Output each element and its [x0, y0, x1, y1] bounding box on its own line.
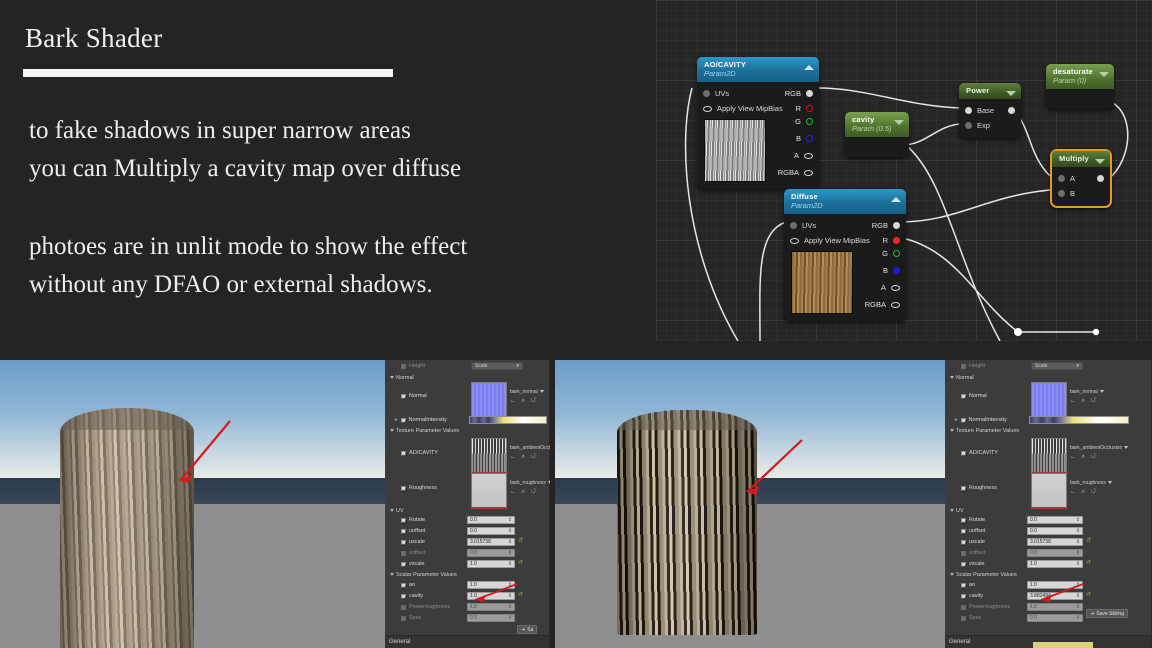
spinner-icon[interactable]: ⇕	[508, 615, 512, 621]
disclosure-triangle-icon[interactable]: ▸	[955, 417, 958, 423]
save-sibling-button-right[interactable]: ⇥ Save Sibling	[1086, 609, 1128, 618]
disclosure-triangle-icon[interactable]: ▸	[395, 417, 398, 423]
row-uoffset[interactable]: uoffset	[401, 528, 425, 534]
checkbox-uscale[interactable]	[961, 540, 966, 545]
node-title: AO/CAVITY	[704, 60, 813, 69]
node-diffuse[interactable]: Diffuse Param2D UVs RGB Apply View MipBi…	[784, 189, 906, 321]
texture-slot-normal[interactable]	[1031, 382, 1067, 418]
chevron-down-icon[interactable]	[548, 481, 550, 484]
chevron-down-icon[interactable]	[894, 120, 904, 125]
label-powerroughness: Powerroughness	[969, 604, 1010, 610]
label-cavity: cavity	[969, 593, 983, 599]
checkbox-ao[interactable]	[961, 583, 966, 588]
row-normal-intensity[interactable]: ▸ NormalIntensity	[395, 417, 447, 423]
section-uv[interactable]: UV	[390, 508, 404, 514]
node-ao-cavity[interactable]: AO/CAVITY Param2D UVs RGB Apply View Mip…	[697, 57, 819, 189]
checkbox-voffset[interactable]	[961, 551, 966, 556]
section-label: Texture Parameter Values	[396, 428, 459, 434]
input-powerroughness[interactable]: 1.0⇕	[467, 603, 515, 611]
checkbox-normal-intensity[interactable]	[401, 418, 406, 423]
combo-scale[interactable]: Scale ▾	[471, 362, 523, 370]
node-desaturate[interactable]: desaturate Param (0)	[1046, 64, 1114, 109]
label-voffset: voffset	[409, 550, 425, 556]
label-roughness: Roughness	[969, 485, 997, 491]
section-label: Texture Parameter Values	[956, 428, 1019, 434]
pin-label: G	[795, 117, 801, 126]
details-panel-right[interactable]: Height Scale ▾ Normal Normal bark_normal	[945, 360, 1152, 648]
label-uscale: uscale	[969, 539, 985, 545]
slide-root: Bark Shader to fake shadows in super nar…	[0, 0, 1152, 648]
value-rotate: 0.0	[470, 517, 477, 523]
node-pin-row[interactable]: Apply View MipBias R	[697, 101, 819, 116]
checkbox-roughness[interactable]	[961, 486, 966, 491]
row-height[interactable]: Height	[961, 363, 985, 369]
spinner-icon[interactable]: ⇕	[508, 528, 512, 534]
input-voffset[interactable]: 0.0⇕	[467, 549, 515, 557]
checkbox-uoffset[interactable]	[961, 529, 966, 534]
pin-label: B	[1070, 189, 1075, 198]
disclosure-triangle-icon[interactable]	[950, 509, 954, 512]
save-icon: ⇥	[1090, 611, 1094, 617]
input-rotate[interactable]: 0.0⇕	[1027, 516, 1083, 524]
reset-icon-uscale[interactable]: ↺	[1086, 537, 1091, 544]
output-pin-icon[interactable]	[804, 170, 813, 176]
checkbox-spec[interactable]	[401, 616, 406, 621]
viewport-left[interactable]	[0, 360, 385, 648]
texture-actions-normal[interactable]: ← ⌕ ↺	[1070, 398, 1098, 405]
viewport-right[interactable]	[555, 360, 945, 648]
bottom-screenshot-strip: Height Scale ▾ Normal Normal bark_normal	[0, 360, 1152, 648]
section-uv[interactable]: UV	[950, 508, 964, 514]
pin-label: Exp	[977, 121, 990, 130]
chevron-down-icon[interactable]	[1006, 91, 1016, 96]
texture-name-roughness[interactable]: bark_roughness	[1070, 480, 1112, 486]
row-ao[interactable]: ao	[961, 582, 975, 588]
value-uoffset: 0.0	[470, 528, 477, 534]
section-label: Scalar Parameter Values	[396, 572, 457, 578]
details-labels-right: Height Scale ▾ Normal Normal bark_normal	[945, 360, 1152, 648]
node-multiply[interactable]: Multiply A B	[1050, 149, 1112, 208]
details-labels-left: Height Scale ▾ Normal Normal bark_normal	[385, 360, 550, 648]
chevron-down-icon[interactable]	[1124, 446, 1128, 449]
label-vscale: vscale	[969, 561, 985, 567]
texture-actions-ao[interactable]: ← ⌕ ↺	[510, 454, 538, 461]
pin-label: UVs	[715, 89, 729, 98]
label-rotate: Rotate	[969, 517, 985, 523]
checkbox-ao-cavity[interactable]	[401, 451, 406, 456]
pin-label: A	[881, 283, 886, 292]
input-spec[interactable]: 0.0⇕	[1027, 614, 1083, 622]
pin-label: UVs	[802, 221, 816, 230]
output-pin-icon[interactable]	[893, 237, 900, 244]
label-cavity: cavity	[409, 593, 423, 599]
spinner-icon[interactable]: ⇕	[508, 517, 512, 523]
annotation-arrow-right	[735, 436, 807, 501]
value-spec: 0.0	[1030, 615, 1037, 621]
slide-body: to fake shadows in super narrow areas yo…	[29, 112, 639, 304]
disclosure-triangle-icon[interactable]	[390, 573, 394, 576]
texture-name-ao[interactable]: bark_ambientOcclusion	[510, 445, 550, 451]
output-pin-icon[interactable]	[806, 118, 813, 125]
checkbox-vscale[interactable]	[401, 562, 406, 567]
label-ao-cavity: AO/CAVITY	[969, 450, 998, 456]
label-vscale: vscale	[409, 561, 425, 567]
texture-name-normal[interactable]: bark_normal	[1070, 389, 1104, 395]
reset-icon-uscale[interactable]: ↺	[518, 537, 523, 544]
combo-scale[interactable]: Scale ▾	[1031, 362, 1083, 370]
annotation-arrow-right-panel	[1033, 582, 1088, 604]
output-pin-icon[interactable]	[806, 105, 813, 112]
checkbox-rotate[interactable]	[401, 518, 406, 523]
row-normal-intensity[interactable]: ▸ NormalIntensity	[955, 417, 1007, 423]
input-pin-icon[interactable]	[703, 90, 710, 97]
input-pin-icon[interactable]	[965, 122, 972, 129]
checkbox-powerroughness[interactable]	[961, 605, 966, 610]
general-label: General	[949, 639, 970, 645]
output-pin-icon[interactable]	[806, 135, 813, 142]
label-uoffset: uoffset	[409, 528, 425, 534]
node-pin-row[interactable]: B	[1052, 186, 1110, 201]
general-section-bar-left[interactable]: General	[385, 635, 549, 648]
row-rotate[interactable]: Rotate	[961, 517, 985, 523]
checkbox-cavity[interactable]	[401, 594, 406, 599]
label-normal: Normal	[969, 393, 987, 399]
disclosure-triangle-icon[interactable]	[950, 573, 954, 576]
checkbox-uscale[interactable]	[401, 540, 406, 545]
node-pin-row[interactable]: Base	[959, 103, 1021, 118]
body-line: without any DFAO or external shadows.	[29, 266, 639, 304]
row-voffset[interactable]: voffset	[401, 550, 425, 556]
spinner-icon[interactable]: ⇕	[1076, 550, 1080, 556]
label-normal: Normal	[409, 393, 427, 399]
value-spec: 0.5	[470, 615, 477, 621]
input-pin-icon[interactable]	[1058, 175, 1065, 182]
input-pin-icon[interactable]	[703, 106, 712, 112]
output-pin-icon[interactable]	[893, 250, 900, 257]
row-powerroughness[interactable]: Powerroughness	[961, 604, 1010, 610]
output-pin-icon[interactable]	[1097, 175, 1104, 182]
node-pin-row[interactable]: UVs RGB	[784, 218, 906, 233]
disclosure-triangle-icon[interactable]	[390, 509, 394, 512]
body-line: to fake shadows in super narrow areas	[29, 112, 639, 150]
texture-slot-normal[interactable]	[471, 382, 507, 418]
pin-label: R	[796, 104, 801, 113]
checkbox-vscale[interactable]	[961, 562, 966, 567]
label-rotate: Rotate	[409, 517, 425, 523]
row-ao-cavity[interactable]: AO/CAVITY	[401, 450, 438, 456]
node-body	[1046, 89, 1114, 109]
node-header[interactable]: Power	[959, 83, 1021, 99]
node-subtitle: Param (0.5)	[852, 124, 903, 133]
node-subtitle: Param2D	[704, 69, 813, 78]
node-subtitle: Param (0)	[1053, 76, 1108, 85]
node-header[interactable]: AO/CAVITY Param2D	[697, 57, 819, 82]
general-label: General	[389, 639, 410, 645]
pin-label: B	[796, 134, 801, 143]
pin-label: RGBA	[865, 300, 886, 309]
value-uoffset: 0.0	[1030, 528, 1037, 534]
section-label: Scalar Parameter Values	[956, 572, 1017, 578]
texture-thumbnail-diffuse[interactable]	[791, 251, 853, 314]
spinner-icon[interactable]: ⇕	[1076, 615, 1080, 621]
disclosure-triangle-icon[interactable]	[950, 429, 954, 432]
texture-name-label: bark_roughness	[510, 480, 546, 486]
spinner-icon[interactable]: ⇕	[1076, 604, 1080, 610]
texture-name-label: bark_ambientOcclusion	[510, 445, 550, 451]
disclosure-triangle-icon[interactable]	[950, 376, 954, 379]
texture-actions-roughness[interactable]: ← ⌕ ↺	[1070, 489, 1098, 496]
label-ao: ao	[409, 582, 415, 588]
gradient-normal-intensity[interactable]	[469, 416, 547, 424]
node-body: Base Exp	[959, 99, 1021, 138]
checkbox-height[interactable]	[401, 364, 406, 369]
chevron-down-icon[interactable]	[1100, 390, 1104, 393]
row-ao-cavity[interactable]: AO/CAVITY	[961, 450, 998, 456]
checkbox-uoffset[interactable]	[401, 529, 406, 534]
section-normal[interactable]: Normal	[950, 375, 974, 381]
input-pin-icon[interactable]	[965, 107, 972, 114]
highlight-bar	[1033, 642, 1093, 648]
input-uoffset[interactable]: 0.0⇕	[467, 527, 515, 535]
checkbox-voffset[interactable]	[401, 551, 406, 556]
details-panel-left[interactable]: Height Scale ▾ Normal Normal bark_normal	[385, 360, 550, 648]
input-pin-icon[interactable]	[790, 222, 797, 229]
checkbox-cavity[interactable]	[961, 594, 966, 599]
page-title: Bark Shader	[25, 23, 163, 54]
pin-label: Apply View MipBias	[804, 236, 870, 245]
checkbox-normal[interactable]	[401, 394, 406, 399]
node-body	[845, 137, 909, 157]
input-powerroughness[interactable]: 1.0⇕	[1027, 603, 1083, 611]
node-body: UVs RGB Apply View MipBias R G B A	[784, 214, 906, 321]
checkbox-normal[interactable]	[961, 394, 966, 399]
row-vscale[interactable]: vscale	[401, 561, 425, 567]
material-node-graph[interactable]: AO/CAVITY Param2D UVs RGB Apply View Mip…	[656, 0, 1152, 341]
label-height: Height	[409, 363, 425, 369]
input-vscale[interactable]: 1.0⇕	[1027, 560, 1083, 568]
node-header[interactable]: Diffuse Param2D	[784, 189, 906, 214]
output-pin-icon[interactable]	[893, 222, 900, 229]
combo-value: Scale	[475, 363, 488, 369]
texture-name-label: bark_normal	[510, 389, 538, 395]
label-powerroughness: Powerroughness	[409, 604, 450, 610]
save-sibling-button-left[interactable]: ⇥ Sa	[517, 625, 537, 634]
row-normal[interactable]: Normal	[401, 393, 427, 399]
gradient-normal-intensity[interactable]	[1029, 416, 1129, 424]
pin-label: Apply View MipBias	[717, 104, 783, 113]
output-pin-icon[interactable]	[804, 153, 813, 159]
chevron-down-icon: ▾	[516, 363, 519, 369]
value-vscale: 1.0	[1030, 561, 1037, 567]
texture-slot-roughness[interactable]	[471, 473, 507, 509]
texture-actions-normal[interactable]: ← ⌕ ↺	[510, 398, 538, 405]
pin-label: G	[882, 249, 888, 258]
row-uscale[interactable]: uscale	[401, 539, 425, 545]
section-label: UV	[956, 508, 964, 514]
checkbox-rotate[interactable]	[961, 518, 966, 523]
row-rotate[interactable]: Rotate	[401, 517, 425, 523]
row-spec[interactable]: Spec	[961, 615, 982, 621]
output-pin-icon[interactable]	[891, 302, 900, 308]
output-pin-icon[interactable]	[893, 267, 900, 274]
label-spec: Spec	[409, 615, 422, 621]
row-uoffset[interactable]: uoffset	[961, 528, 985, 534]
reset-icon-vscale[interactable]: ↺	[518, 559, 523, 566]
spinner-icon[interactable]: ⇕	[1076, 528, 1080, 534]
node-header[interactable]: cavity Param (0.5)	[845, 112, 909, 137]
output-pin-icon[interactable]	[806, 90, 813, 97]
disclosure-triangle-icon[interactable]	[390, 376, 394, 379]
checkbox-ao[interactable]	[401, 583, 406, 588]
chevron-down-icon[interactable]	[1099, 72, 1109, 77]
chevron-up-icon[interactable]	[891, 197, 901, 202]
label-uscale: uscale	[409, 539, 425, 545]
texture-slot-roughness[interactable]	[1031, 473, 1067, 509]
row-ao[interactable]: ao	[401, 582, 415, 588]
label-normal-intensity: NormalIntensity	[409, 417, 447, 423]
label-height: Height	[969, 363, 985, 369]
row-spec[interactable]: Spec	[401, 615, 422, 621]
pin-label: Base	[977, 106, 994, 115]
checkbox-ao-cavity[interactable]	[961, 451, 966, 456]
node-pin-row[interactable]: A	[1052, 171, 1110, 186]
texture-name-normal[interactable]: bark_normal	[510, 389, 544, 395]
texture-name-label: bark_roughness	[1070, 480, 1106, 486]
node-body: UVs RGB Apply View MipBias R G B A	[697, 82, 819, 189]
chevron-up-icon[interactable]	[804, 65, 814, 70]
chevron-down-icon: ▾	[1076, 363, 1079, 369]
title-underline	[23, 69, 393, 77]
node-header[interactable]: Multiply	[1052, 151, 1110, 167]
section-label: Normal	[396, 375, 414, 381]
node-header[interactable]: desaturate Param (0)	[1046, 64, 1114, 89]
input-pin-icon[interactable]	[1058, 190, 1065, 197]
texture-slot-ao[interactable]	[471, 438, 507, 474]
section-texture-parameter-values[interactable]: Texture Parameter Values	[390, 428, 459, 434]
checkbox-height[interactable]	[961, 364, 966, 369]
pin-label: A	[1070, 174, 1075, 183]
pin-label: B	[883, 266, 888, 275]
row-cavity[interactable]: cavity	[961, 593, 983, 599]
paragraph-gap	[29, 188, 639, 228]
section-normal[interactable]: Normal	[390, 375, 414, 381]
input-uoffset[interactable]: 0.0⇕	[1027, 527, 1083, 535]
row-uscale[interactable]: uscale	[961, 539, 985, 545]
checkbox-powerroughness[interactable]	[401, 605, 406, 610]
row-normal[interactable]: Normal	[961, 393, 987, 399]
pin-label: R	[883, 236, 888, 245]
label-ao: ao	[969, 582, 975, 588]
input-voffset[interactable]: 0.0⇕	[1027, 549, 1083, 557]
value-uscale: 3.015738	[1030, 539, 1051, 545]
node-pin-row[interactable]: Exp	[959, 118, 1021, 133]
value-voffset: 0.0	[1030, 550, 1037, 556]
row-roughness[interactable]: Roughness	[961, 485, 997, 491]
spinner-icon[interactable]: ⇕	[1076, 539, 1080, 545]
disclosure-triangle-icon[interactable]	[390, 429, 394, 432]
texture-thumbnail-ao[interactable]	[704, 119, 766, 182]
save-sibling-label: Sa	[527, 627, 533, 633]
pin-label: A	[794, 151, 799, 160]
texture-name-ao[interactable]: bark_ambientOcclusion	[1070, 445, 1128, 451]
spinner-icon[interactable]: ⇕	[508, 604, 512, 610]
value-powerroughness: 1.0	[470, 604, 477, 610]
label-voffset: voffset	[969, 550, 985, 556]
label-roughness: Roughness	[409, 485, 437, 491]
input-rotate[interactable]: 0.0⇕	[467, 516, 515, 524]
texture-name-label: bark_normal	[1070, 389, 1098, 395]
checkbox-normal-intensity[interactable]	[961, 418, 966, 423]
input-spec[interactable]: 0.5⇕	[467, 614, 515, 622]
row-powerroughness[interactable]: Powerroughness	[401, 604, 450, 610]
checkbox-spec[interactable]	[961, 616, 966, 621]
texture-actions-ao[interactable]: ← ⌕ ↺	[1070, 454, 1098, 461]
body-line: you can Multiply a cavity map over diffu…	[29, 150, 639, 188]
output-pin-icon[interactable]	[891, 285, 900, 291]
chevron-down-icon[interactable]	[1095, 159, 1105, 164]
pin-label: RGB	[872, 221, 888, 230]
chevron-down-icon[interactable]	[540, 390, 544, 393]
section-texture-parameter-values[interactable]: Texture Parameter Values	[950, 428, 1019, 434]
label-normal-intensity: NormalIntensity	[969, 417, 1007, 423]
output-pin-icon[interactable]	[1008, 107, 1015, 114]
texture-slot-ao[interactable]	[1031, 438, 1067, 474]
slide-text-area: Bark Shader to fake shadows in super nar…	[0, 0, 656, 358]
label-spec: Spec	[969, 615, 982, 621]
section-scalar-parameter-values[interactable]: Scalar Parameter Values	[950, 572, 1017, 578]
spinner-icon[interactable]: ⇕	[508, 561, 512, 567]
input-uscale[interactable]: 3.015738⇕	[1027, 538, 1083, 546]
node-power[interactable]: Power Base Exp	[959, 83, 1021, 138]
pin-label: RGB	[785, 89, 801, 98]
node-pin-row[interactable]: UVs RGB	[697, 86, 819, 101]
body-line: photoes are in unlit mode to show the ef…	[29, 228, 639, 266]
node-title: Diffuse	[791, 192, 900, 201]
input-vscale[interactable]: 1.0⇕	[467, 560, 515, 568]
input-pin-icon[interactable]	[790, 238, 799, 244]
value-uscale: 3.015738	[470, 539, 491, 545]
row-roughness[interactable]: Roughness	[401, 485, 437, 491]
save-icon: ⇥	[521, 627, 525, 633]
row-cavity[interactable]: cavity	[401, 593, 423, 599]
value-rotate: 0.0	[1030, 517, 1037, 523]
value-vscale: 1.0	[470, 561, 477, 567]
texture-actions-roughness[interactable]: ← ⌕ ↺	[510, 489, 538, 496]
checkbox-roughness[interactable]	[401, 486, 406, 491]
chevron-down-icon[interactable]	[1108, 481, 1112, 484]
node-pin-row[interactable]: Apply View MipBias R	[784, 233, 906, 248]
annotation-arrow-left	[170, 415, 235, 490]
row-vscale[interactable]: vscale	[961, 561, 985, 567]
node-subtitle: Param2D	[791, 201, 900, 210]
node-cavity-param[interactable]: cavity Param (0.5)	[845, 112, 909, 157]
row-height[interactable]: Height	[401, 363, 425, 369]
input-uscale[interactable]: 3.015738⇕	[467, 538, 515, 546]
label-uoffset: uoffset	[969, 528, 985, 534]
texture-name-roughness[interactable]: bark_roughness	[510, 480, 550, 486]
row-voffset[interactable]: voffset	[961, 550, 985, 556]
section-scalar-parameter-values[interactable]: Scalar Parameter Values	[390, 572, 457, 578]
combo-value: Scale	[1035, 363, 1048, 369]
reset-icon-vscale[interactable]: ↺	[1086, 559, 1091, 566]
node-body: A B	[1052, 167, 1110, 206]
spinner-icon[interactable]: ⇕	[508, 550, 512, 556]
label-ao-cavity: AO/CAVITY	[409, 450, 438, 456]
spinner-icon[interactable]: ⇕	[1076, 561, 1080, 567]
section-label: Normal	[956, 375, 974, 381]
spinner-icon[interactable]: ⇕	[1076, 517, 1080, 523]
spinner-icon[interactable]: ⇕	[508, 539, 512, 545]
